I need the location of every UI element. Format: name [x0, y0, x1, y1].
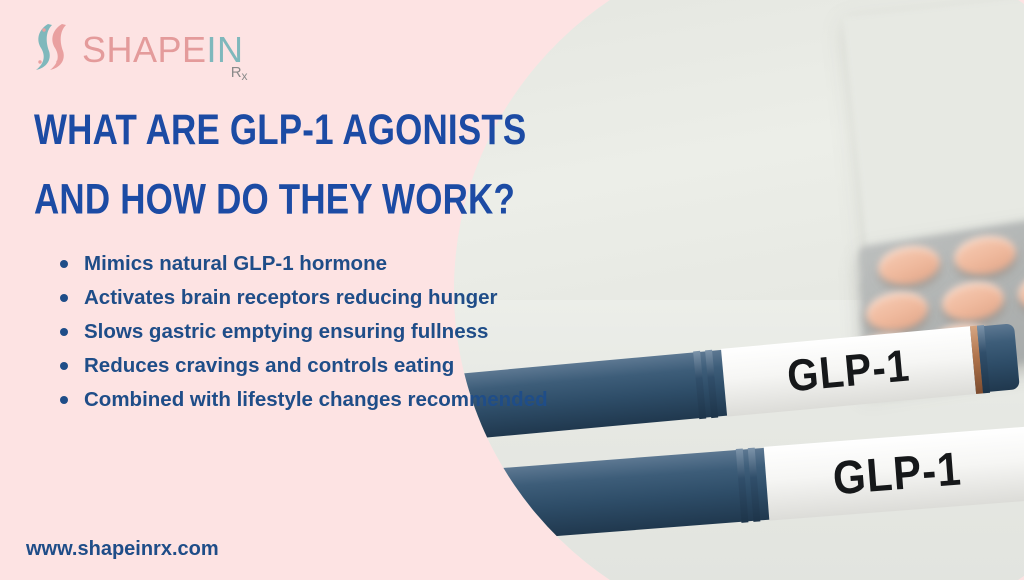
- list-item: Combined with lifestyle changes recommen…: [58, 386, 588, 414]
- page-title: WHAT ARE GLP-1 AGONISTS AND HOW DO THEY …: [34, 96, 549, 235]
- brand-logo[interactable]: SHAPEIN Rx: [28, 18, 244, 76]
- website-url[interactable]: www.shapeinrx.com: [26, 538, 219, 561]
- logo-word-shape: SHAPE: [82, 29, 207, 70]
- logo-wordmark: SHAPEIN Rx: [82, 18, 244, 68]
- poster-canvas: GLP-1 GLP-1: [0, 0, 1024, 580]
- logo-rx-mark: Rx: [231, 64, 248, 83]
- shapeinrx-logo-mark: [28, 18, 80, 76]
- benefits-list: Mimics natural GLP-1 hormone Activates b…: [58, 250, 588, 420]
- pen-label-text: GLP-1: [785, 341, 912, 402]
- list-item: Mimics natural GLP-1 hormone: [58, 250, 588, 278]
- list-item: Slows gastric emptying ensuring fullness: [58, 318, 588, 346]
- pen-label-text: GLP-1: [831, 442, 963, 505]
- logo-rx-x: x: [242, 69, 248, 83]
- logo-rx-r: R: [231, 64, 242, 81]
- list-item: Activates brain receptors reducing hunge…: [58, 284, 588, 312]
- list-item: Reduces cravings and controls eating: [58, 352, 588, 380]
